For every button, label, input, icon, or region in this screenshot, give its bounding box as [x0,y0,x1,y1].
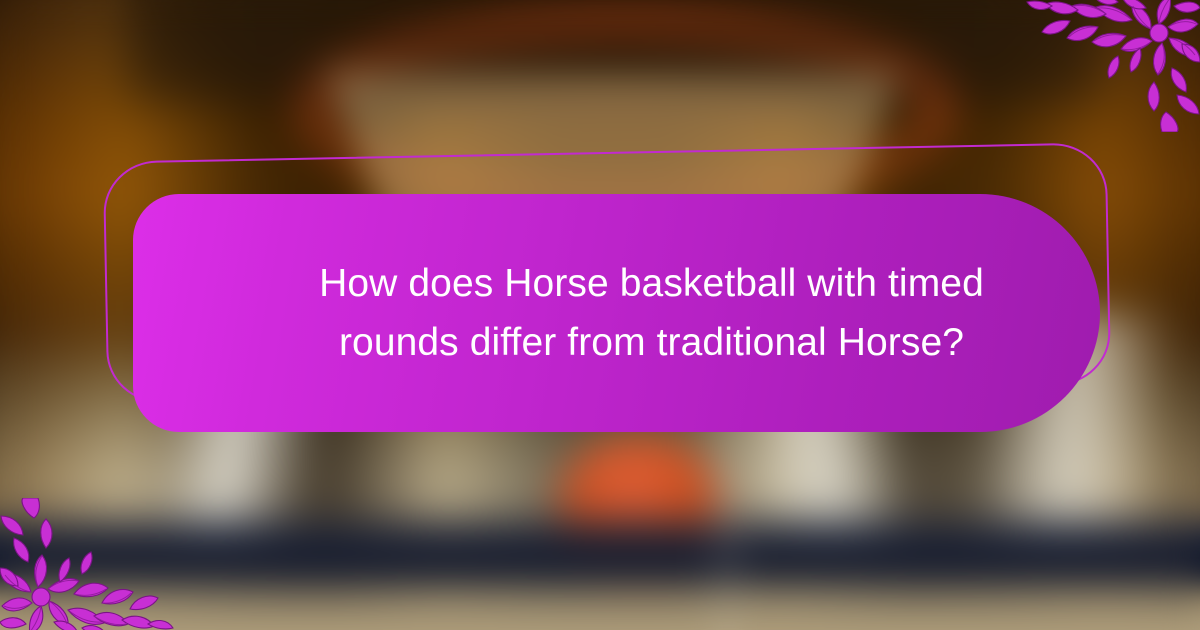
question-card: How does Horse basketball with timed rou… [133,194,1100,432]
question-title: How does Horse basketball with timed rou… [312,254,992,373]
share-card-canvas: How does Horse basketball with timed rou… [0,0,1200,630]
